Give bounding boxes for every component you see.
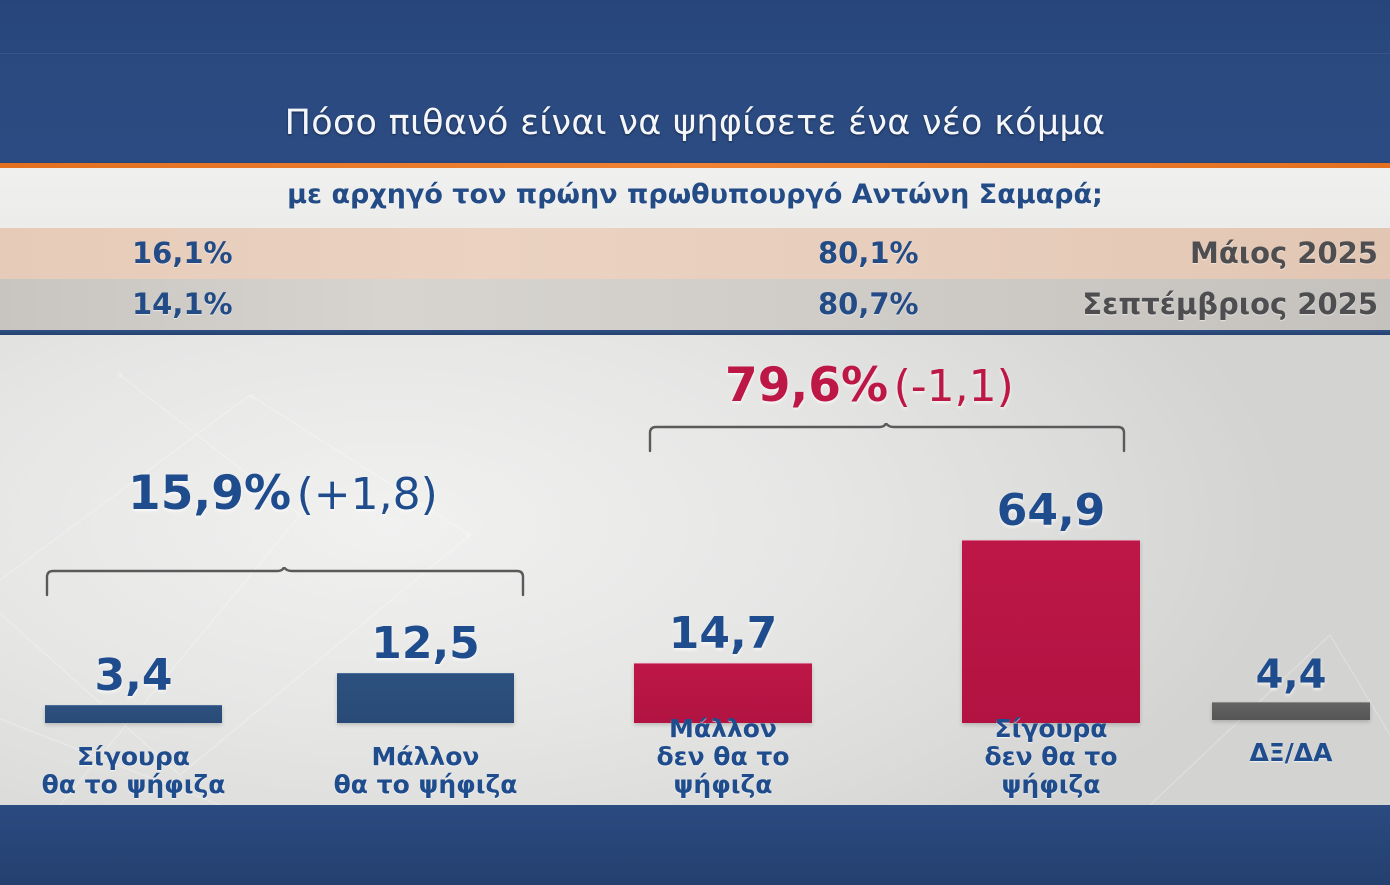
bar-value-label: 64,9 xyxy=(962,485,1140,536)
bar-caption: Σίγουρα θα το ψήφιζα xyxy=(17,743,250,799)
bar-column-dk-da: 4,4 ΔΞ/ΔΑ xyxy=(1212,335,1370,805)
bar-caption-line2: θα το ψήφιζα xyxy=(309,771,542,799)
row-wave-label: Σεπτέμβριος 2025 xyxy=(1082,279,1378,330)
bar-caption-line1: ΔΞ/ΔΑ xyxy=(1250,738,1333,767)
page-subtitle: με αρχηγό τον πρώην πρωθυπουργό Αντώνη Σ… xyxy=(0,179,1390,210)
row-wave-label: Μάιος 2025 xyxy=(1190,228,1378,279)
chart-area: 15,9% (+1,8) 79,6% (-1,1) 3,4 xyxy=(0,335,1390,805)
bar-rect xyxy=(1212,702,1370,720)
bar-rect xyxy=(45,705,222,723)
row-negative-value: 80,1% xyxy=(818,228,919,279)
bar-caption: Σίγουρα δεν θα το ψήφιζα xyxy=(934,715,1168,799)
row-positive-value: 16,1% xyxy=(132,228,233,279)
bar-caption-line2: δεν θα το ψήφιζα xyxy=(934,743,1168,799)
bar-caption: Μάλλον θα το ψήφιζα xyxy=(309,743,542,799)
bar-column-mallon-tha: 12,5 Μάλλον θα το ψήφιζα xyxy=(337,335,514,805)
bar-column-sigoura-tha: 3,4 Σίγουρα θα το ψήφιζα xyxy=(45,335,222,805)
footer-band xyxy=(0,805,1390,885)
row-positive-value: 14,1% xyxy=(132,279,233,330)
bar-caption-line1: Μάλλον xyxy=(372,742,480,771)
bar-caption: ΔΞ/ΔΑ xyxy=(1184,739,1390,767)
bar-rect xyxy=(337,673,514,723)
bar-caption-line2: θα το ψήφιζα xyxy=(17,771,250,799)
bar-caption-line1: Μάλλον xyxy=(669,714,777,743)
row-negative-value: 80,7% xyxy=(818,279,919,330)
page-title: Πόσο πιθανό είναι να ψηφίσετε ένα νέο κό… xyxy=(0,103,1390,143)
bar-value-label: 3,4 xyxy=(45,650,222,701)
poll-graphic: Πόσο πιθανό είναι να ψηφίσετε ένα νέο κό… xyxy=(0,0,1390,885)
bar-value-label: 14,7 xyxy=(634,608,812,659)
bar-column-mallon-den: 14,7 Μάλλον δεν θα το ψήφιζα xyxy=(634,335,812,805)
bar-caption-line2: δεν θα το ψήφιζα xyxy=(606,743,840,799)
bar-rect xyxy=(962,540,1140,723)
header-band: Πόσο πιθανό είναι να ψηφίσετε ένα νέο κό… xyxy=(0,0,1390,163)
comparison-row-may: 16,1% 80,1% Μάιος 2025 xyxy=(0,228,1390,279)
bar-value-label: 4,4 xyxy=(1212,652,1370,698)
bar-column-sigoura-den: 64,9 Σίγουρα δεν θα το ψήφιζα xyxy=(962,335,1140,805)
bar-caption: Μάλλον δεν θα το ψήφιζα xyxy=(606,715,840,799)
bar-caption-line1: Σίγουρα xyxy=(995,714,1108,743)
bar-plot: 15,9% (+1,8) 79,6% (-1,1) 3,4 xyxy=(0,335,1390,805)
comparison-row-september: 14,1% 80,7% Σεπτέμβριος 2025 xyxy=(0,279,1390,330)
bar-value-label: 12,5 xyxy=(337,618,514,669)
subtitle-band: με αρχηγό τον πρώην πρωθυπουργό Αντώνη Σ… xyxy=(0,168,1390,228)
bar-caption-line1: Σίγουρα xyxy=(77,742,190,771)
